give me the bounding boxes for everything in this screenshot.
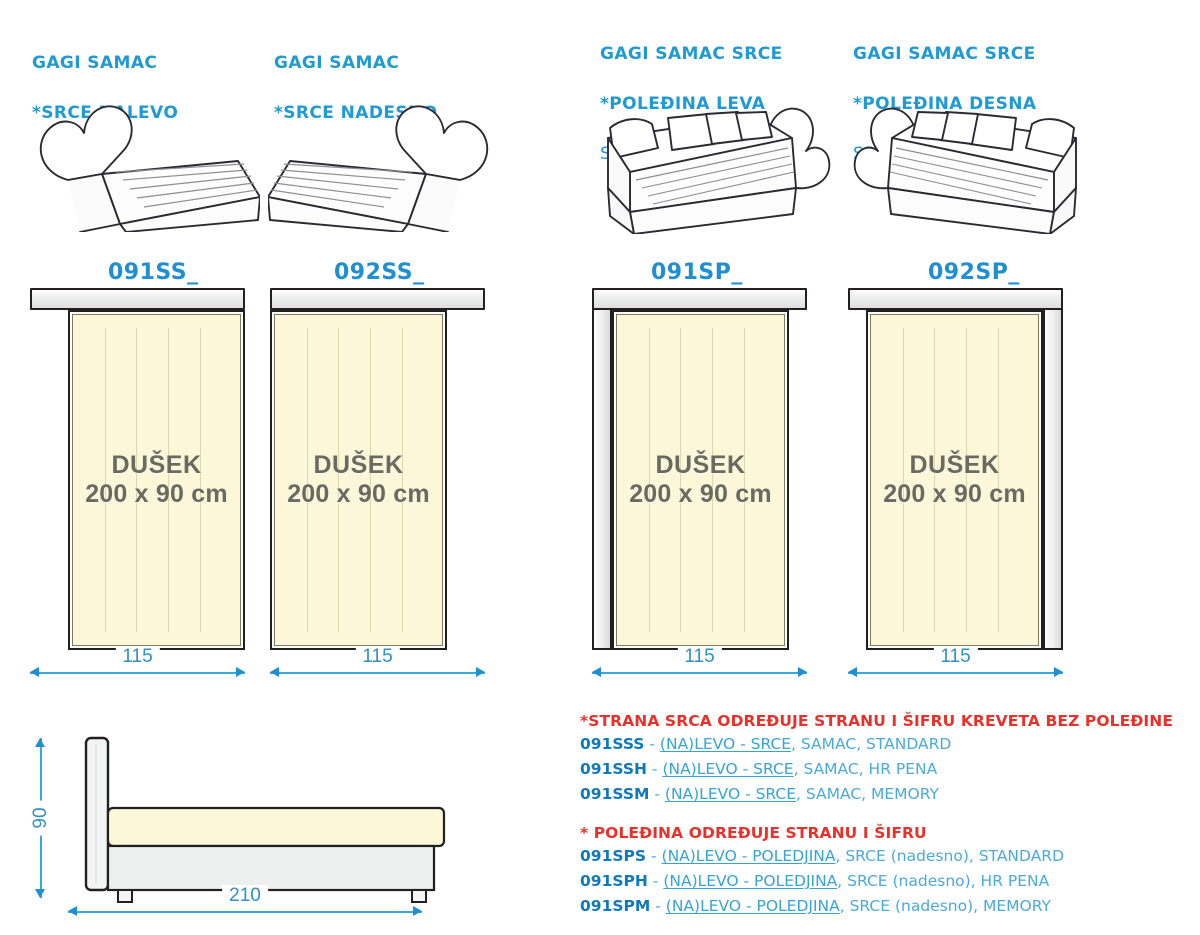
legend-dash: - [651,847,657,865]
legend-emphasis: (NA)LEVO - POLEDJINA [662,847,836,865]
length-dimension: 210 [68,903,422,921]
mattress-title: DUŠEK [883,451,1026,481]
bed-illustration-091SP [596,92,834,234]
legend-row: 091SSM - (NA)LEVO - SRCE, SAMAC, MEMORY [580,782,1173,807]
legend-title-2: * POLEĐINA ODREĐUJE STRANU I ŠIFRU [580,822,1064,844]
legend-block-1: *STRANA SRCA ODREĐUJE STRANU I ŠIFRU KRE… [580,710,1173,807]
product-code-092SS: 092SS_ [334,260,425,285]
legend-dash: - [654,785,660,803]
legend-code: 091SSS [580,735,644,753]
mattress-091SS: DUŠEK 200 x 90 cm [68,310,245,650]
width-dimension-091SS: 115 [30,664,245,682]
height-dimension: 90 [32,738,50,898]
mattress-title: DUŠEK [85,451,228,481]
legend-rest: , SRCE (nadesno), HR PENA [837,872,1049,890]
mattress-label: DUŠEK 200 x 90 cm [85,451,228,510]
legend-row: 091SPH - (NA)LEVO - POLEDJINA, SRCE (nad… [580,869,1064,894]
width-value: 115 [355,646,399,668]
legend-code: 091SSH [580,760,647,778]
plan-view-091SP: DUŠEK 200 x 90 cm [592,288,807,653]
back-panel-right [1043,308,1063,650]
legend-code: 091SPH [580,872,648,890]
legend-rest: , SAMAC, MEMORY [796,785,939,803]
legend-title-1: *STRANA SRCA ODREĐUJE STRANU I ŠIFRU KRE… [580,710,1173,732]
legend-rest: , SAMAC, STANDARD [791,735,951,753]
bed-illustration-091SS [28,84,260,232]
legend-row: 091SSS - (NA)LEVO - SRCE, SAMAC, STANDAR… [580,732,1173,757]
legend-emphasis: (NA)LEVO - POLEDJINA [663,872,837,890]
legend-rest: , SRCE (nadesno), MEMORY [840,897,1051,915]
legend-dash: - [649,735,655,753]
plan-view-092SS: DUŠEK 200 x 90 cm [270,288,485,653]
width-value: 115 [933,646,977,668]
legend-emphasis: (NA)LEVO - SRCE [660,735,791,753]
width-dimension-092SS: 115 [270,664,485,682]
product-code-092SP: 092SP_ [928,260,1020,285]
bed-illustration-092SS [268,84,500,232]
mattress-size: 200 x 90 cm [629,480,772,510]
headboard-rail [270,288,485,310]
legend-code: 091SSM [580,785,649,803]
legend-code: 091SPM [580,897,650,915]
mattress-title: DUŠEK [629,451,772,481]
legend-rest: , SRCE (nadesno), STANDARD [835,847,1064,865]
height-value: 90 [30,800,52,835]
mattress-092SP: DUŠEK 200 x 90 cm [866,310,1043,650]
legend-emphasis: (NA)LEVO - SRCE [662,760,793,778]
legend-emphasis: (NA)LEVO - SRCE [665,785,796,803]
width-value: 115 [115,646,159,668]
mattress-label: DUŠEK 200 x 90 cm [883,451,1026,510]
mattress-label: DUŠEK 200 x 90 cm [287,451,430,510]
product-code-091SS: 091SS_ [108,260,199,285]
mattress-label: DUŠEK 200 x 90 cm [629,451,772,510]
back-panel-left [592,308,612,650]
mattress-title: DUŠEK [287,451,430,481]
width-dimension-092SP: 115 [848,664,1063,682]
mattress-091SP: DUŠEK 200 x 90 cm [612,310,789,650]
mattress-092SS: DUŠEK 200 x 90 cm [270,310,447,650]
mattress-size: 200 x 90 cm [287,480,430,510]
legend-emphasis: (NA)LEVO - POLEDJINA [666,897,840,915]
plan-view-091SS: DUŠEK 200 x 90 cm [30,288,245,653]
headboard-rail [30,288,245,310]
length-value: 210 [222,885,268,907]
heading-line1: GAGI SAMAC [32,51,178,76]
legend-row: 091SSH - (NA)LEVO - SRCE, SAMAC, HR PENA [580,757,1173,782]
heading-line1: GAGI SAMAC SRCE [600,42,783,67]
legend-row: 091SPS - (NA)LEVO - POLEDJINA, SRCE (nad… [580,844,1064,869]
heading-line1: GAGI SAMAC SRCE [853,42,1036,67]
headboard-rail [848,288,1063,310]
legend-block-2: * POLEĐINA ODREĐUJE STRANU I ŠIFRU 091SP… [580,822,1064,919]
legend-rest: , SAMAC, HR PENA [794,760,938,778]
side-view-bed [62,736,482,904]
width-dimension-091SP: 115 [592,664,807,682]
bed-illustration-092SP [850,92,1088,234]
legend-dash: - [652,760,658,778]
legend-dash: - [655,897,661,915]
legend-code: 091SPS [580,847,646,865]
legend-dash: - [653,872,659,890]
mattress-size: 200 x 90 cm [883,480,1026,510]
width-value: 115 [677,646,721,668]
legend-row: 091SPM - (NA)LEVO - POLEDJINA, SRCE (nad… [580,894,1064,919]
mattress-size: 200 x 90 cm [85,480,228,510]
heading-line1: GAGI SAMAC [274,51,437,76]
product-code-091SP: 091SP_ [651,260,743,285]
plan-view-092SP: DUŠEK 200 x 90 cm [848,288,1063,653]
headboard-rail [592,288,807,310]
